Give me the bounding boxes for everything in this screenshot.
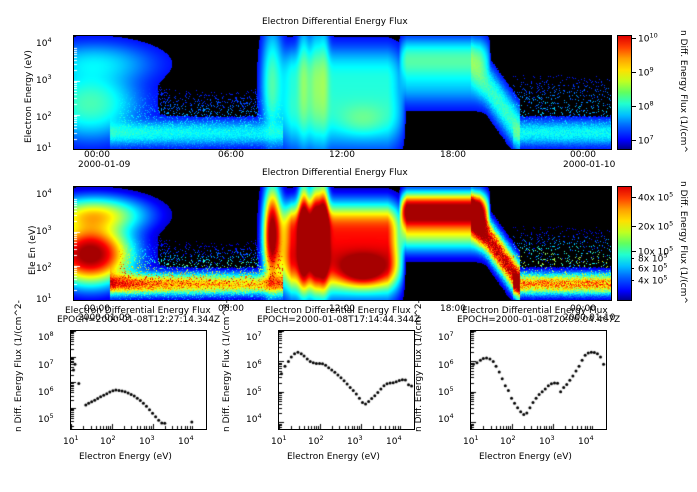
line2-xtick-1e3: 103 (347, 434, 363, 447)
line2-xlabel: Electron Energy (eV) (287, 452, 380, 462)
line3-ytick-1e4: 104 (438, 412, 454, 425)
spec2-cbtick-40-exp: 5 (669, 191, 673, 199)
spec2-colorbar-label-text: n Diff. Energy Flux (1/(cm^ (678, 181, 688, 304)
spec2-ytick-1e4: 104 (36, 187, 52, 200)
line2-xtick-1e2-exp: 2 (319, 434, 323, 442)
line3-ytick-1e6-exp: 6 (449, 358, 453, 366)
line3-ytick-1e7: 107 (438, 330, 454, 343)
spec1-colorbar (617, 35, 632, 150)
line3-ytick-1e6: 106 (438, 358, 454, 371)
line3-ytick-1e4-mant: 10 (438, 415, 449, 425)
line2-ytick-1e6-exp: 6 (257, 358, 261, 366)
line2-plot-area (278, 330, 415, 430)
spec2-ytick-1e2: 102 (36, 261, 52, 274)
line3-ylabel-text: n Diff. Energy Flux (1/(cm^2- (414, 300, 424, 432)
line2-ytick-1e5-mant: 10 (246, 388, 257, 398)
line3-epoch: EPOCH=2000-01-08T20:06:04.467Z (457, 315, 620, 325)
line1-ytick-1e5-exp: 5 (49, 412, 53, 420)
line1-xtick-1e2-exp: 2 (111, 434, 115, 442)
line1-epoch: EPOCH=2000-01-08T12:27:14.344Z (57, 315, 220, 325)
line1-ytick-1e5: 105 (38, 412, 54, 425)
spec1-ytick-1e2-mant: 10 (36, 113, 47, 123)
line1-ytick-1e6-mant: 10 (38, 388, 49, 398)
line1-xtick-1e1-mant: 10 (63, 437, 74, 447)
line2-epoch: EPOCH=2000-01-08T17:14:44.344Z (257, 315, 420, 325)
spec2-cbtick-4-mant: 4x 10 (638, 277, 663, 287)
line1-xtick-1e1: 101 (63, 434, 79, 447)
line1-plot-area (70, 330, 207, 430)
line3-xtick-1e1-exp: 1 (474, 434, 478, 442)
spec2-cbtick-20-exp: 5 (669, 220, 673, 228)
line3-xtick-1e3: 103 (539, 434, 555, 447)
spec1-xtick-1800: 18:00 (440, 150, 466, 160)
spec1-title: Electron Differential Energy Flux (262, 17, 408, 27)
line1-xtick-1e4-mant: 10 (178, 437, 189, 447)
line2-ytick-1e6: 106 (246, 358, 262, 371)
spec1-cbtick-1e10-mant: 10 (638, 35, 649, 45)
spec2-cbtick-6-exp: 5 (663, 262, 667, 270)
spec2-ytick-1e1-exp: 1 (47, 292, 51, 300)
spec2-colorbar-label: n Diff. Energy Flux (1/(cm^ (688, 181, 697, 191)
line3-xtick-1e4: 104 (578, 434, 594, 447)
spec1-xdate-right: 2000-01-10 (563, 160, 615, 170)
spec1-ytick-1e2: 102 (36, 110, 52, 123)
line1-ytick-1e6-exp: 6 (49, 385, 53, 393)
line3-xtick-1e3-mant: 10 (539, 437, 550, 447)
line1-xtick-1e2-mant: 10 (100, 437, 111, 447)
spec1-ylabel-text: Electron Energy (eV) (24, 50, 34, 143)
line2-xtick-1e1: 101 (271, 434, 287, 447)
line1-ylabel-text: n Diff. Energy Flux (1/(cm^2- (14, 300, 24, 432)
line1-xlabel: Electron Energy (eV) (79, 452, 172, 462)
line3-ytick-1e6-mant: 10 (438, 361, 449, 371)
line2-ytick-1e5: 105 (246, 385, 262, 398)
line1-xtick-1e4: 104 (178, 434, 194, 447)
spec1-ytick-1e1-mant: 10 (36, 144, 47, 154)
line1-ytick-1e7-mant: 10 (38, 361, 49, 371)
spec2-ytick-1e3-exp: 3 (47, 224, 51, 232)
spec1-ytick-1e4-exp: 4 (47, 36, 51, 44)
line2-xtick-1e4-mant: 10 (386, 437, 397, 447)
line3-ytick-1e7-exp: 7 (449, 330, 453, 338)
spec2-ytick-1e3-mant: 10 (36, 227, 47, 237)
spec1-cbtick-1e8-mant: 10 (638, 103, 649, 113)
line3-xtick-1e4-mant: 10 (578, 437, 589, 447)
spec1-ytick-1e1-exp: 1 (47, 141, 51, 149)
spec2-ytick-1e1-mant: 10 (36, 295, 47, 305)
spec2-title: Electron Differential Energy Flux (262, 168, 408, 178)
spec1-ytick-1e4-mant: 10 (36, 39, 47, 49)
line1-scatter-canvas (71, 331, 206, 429)
line3-xtick-1e4-exp: 4 (589, 434, 593, 442)
spec2-cbtick-40-mant: 40x 10 (638, 194, 669, 204)
line2-scatter-canvas (279, 331, 414, 429)
spec2-cbtick-10-exp: 5 (669, 245, 673, 253)
line3-plot-area (470, 330, 607, 430)
spec2-ylabel: Ele En (eV) (28, 275, 78, 285)
spec1-plot-area (73, 35, 612, 150)
line3-ylabel: n Diff. Energy Flux (1/(cm^2- (414, 432, 546, 442)
line1-xtick-1e3-exp: 3 (150, 434, 154, 442)
line3-scatter-canvas (471, 331, 606, 429)
spec1-colorbar-label: n Diff. Energy Flux (1/(cm^ (688, 30, 697, 40)
spec1-xdate-left: 2000-01-09 (78, 160, 130, 170)
spec1-cbtick-1e9-mant: 10 (638, 69, 649, 79)
spec2-cbtick-4: 4x 105 (638, 274, 668, 287)
spec2-colorbar (617, 186, 632, 301)
line2-ytick-1e6-mant: 10 (246, 361, 257, 371)
spec2-cbtick-20: 20x 105 (638, 220, 673, 233)
line3-ytick-1e4-exp: 4 (449, 412, 453, 420)
spec1-cbtick-1e10: 1010 (638, 32, 658, 45)
line2-ytick-1e4-exp: 4 (257, 412, 261, 420)
spec2-cbtick-40: 40x 105 (638, 191, 673, 204)
line3-xtick-1e1: 101 (463, 434, 479, 447)
line1-ytick-1e7: 107 (38, 358, 54, 371)
spec2-heatmap-canvas (74, 187, 611, 300)
spec1-xtick-0000a: 00:00 (84, 150, 110, 160)
line3-ytick-1e5-exp: 5 (449, 385, 453, 393)
line2-ytick-1e4: 104 (246, 412, 262, 425)
spec2-ytick-1e2-mant: 10 (36, 264, 47, 274)
line3-xtick-1e3-exp: 3 (550, 434, 554, 442)
line2-xtick-1e1-exp: 1 (282, 434, 286, 442)
line3-ytick-1e5: 105 (438, 385, 454, 398)
line2-xtick-1e3-mant: 10 (347, 437, 358, 447)
line1-ytick-1e5-mant: 10 (38, 415, 49, 425)
line3-xtick-1e2-mant: 10 (500, 437, 511, 447)
line1-xtick-1e2: 102 (100, 434, 116, 447)
spec2-ytick-1e2-exp: 2 (47, 261, 51, 269)
line1-xtick-1e3-mant: 10 (139, 437, 150, 447)
line2-xtick-1e1-mant: 10 (271, 437, 282, 447)
spec2-ytick-1e4-mant: 10 (36, 190, 47, 200)
line2-ytick-1e7: 107 (246, 330, 262, 343)
line3-xtick-1e2: 102 (500, 434, 516, 447)
spec1-ytick-1e2-exp: 2 (47, 110, 51, 118)
line2-ytick-1e4-mant: 10 (246, 415, 257, 425)
line2-ytick-1e5-exp: 5 (257, 385, 261, 393)
spec1-cbtick-1e7-exp: 7 (649, 134, 653, 142)
spec1-colorbar-label-text: n Diff. Energy Flux (1/(cm^ (678, 30, 688, 153)
line1-ytick-1e6: 106 (38, 385, 54, 398)
spec1-ytick-1e4: 104 (36, 36, 52, 49)
spec1-cbtick-1e7: 107 (638, 134, 654, 147)
line2-ytick-1e7-exp: 7 (257, 330, 261, 338)
spec2-cbtick-20-mant: 20x 10 (638, 223, 669, 233)
spec1-cbtick-1e10-exp: 10 (649, 32, 657, 40)
spec1-cbtick-1e8-exp: 8 (649, 100, 653, 108)
spec1-ytick-1e3-exp: 3 (47, 73, 51, 81)
spec1-ytick-1e3: 103 (36, 73, 52, 86)
line3-xtick-1e1-mant: 10 (463, 437, 474, 447)
line2-xtick-1e2: 102 (308, 434, 324, 447)
spec1-heatmap-canvas (74, 36, 611, 149)
line3-xlabel: Electron Energy (eV) (479, 452, 572, 462)
line2-xtick-1e4: 104 (386, 434, 402, 447)
spec1-xtick-1200: 12:00 (329, 150, 355, 160)
spec1-ytick-1e1: 101 (36, 141, 52, 154)
line3-ytick-1e5-mant: 10 (438, 388, 449, 398)
spec2-ytick-1e4-exp: 4 (47, 187, 51, 195)
line1-xtick-1e1-exp: 1 (74, 434, 78, 442)
spec1-xtick-0000b: 00:00 (570, 150, 596, 160)
line3-xtick-1e2-exp: 2 (511, 434, 515, 442)
line2-xtick-1e3-exp: 3 (358, 434, 362, 442)
spec1-ytick-1e3-mant: 10 (36, 76, 47, 86)
line2-ytick-1e7-mant: 10 (246, 333, 257, 343)
spec2-cbtick-8-exp: 5 (663, 252, 667, 260)
spec1-cbtick-1e8: 108 (638, 100, 654, 113)
spec2-ytick-1e3: 103 (36, 224, 52, 237)
line1-ytick-1e8: 108 (38, 330, 54, 343)
line1-xtick-1e4-exp: 4 (189, 434, 193, 442)
line3-ytick-1e7-mant: 10 (438, 333, 449, 343)
line1-ytick-1e8-mant: 10 (38, 333, 49, 343)
line2-ylabel: n Diff. Energy Flux (1/(cm^2- (222, 432, 354, 442)
spec1-cbtick-1e9: 109 (638, 66, 654, 79)
spec2-plot-area (73, 186, 612, 301)
line2-xtick-1e4-exp: 4 (397, 434, 401, 442)
line1-xtick-1e3: 103 (139, 434, 155, 447)
spec1-cbtick-1e9-exp: 9 (649, 66, 653, 74)
line2-ylabel-text: n Diff. Energy Flux (1/(cm^2- (222, 300, 232, 432)
spec2-ytick-1e1: 101 (36, 292, 52, 305)
line1-ytick-1e7-exp: 7 (49, 358, 53, 366)
line2-xtick-1e2-mant: 10 (308, 437, 319, 447)
line1-ytick-1e8-exp: 8 (49, 330, 53, 338)
line1-ylabel: n Diff. Energy Flux (1/(cm^2- (14, 432, 146, 442)
spec1-xtick-0600: 06:00 (218, 150, 244, 160)
spec1-cbtick-1e7-mant: 10 (638, 137, 649, 147)
spec2-cbtick-4-exp: 5 (663, 274, 667, 282)
